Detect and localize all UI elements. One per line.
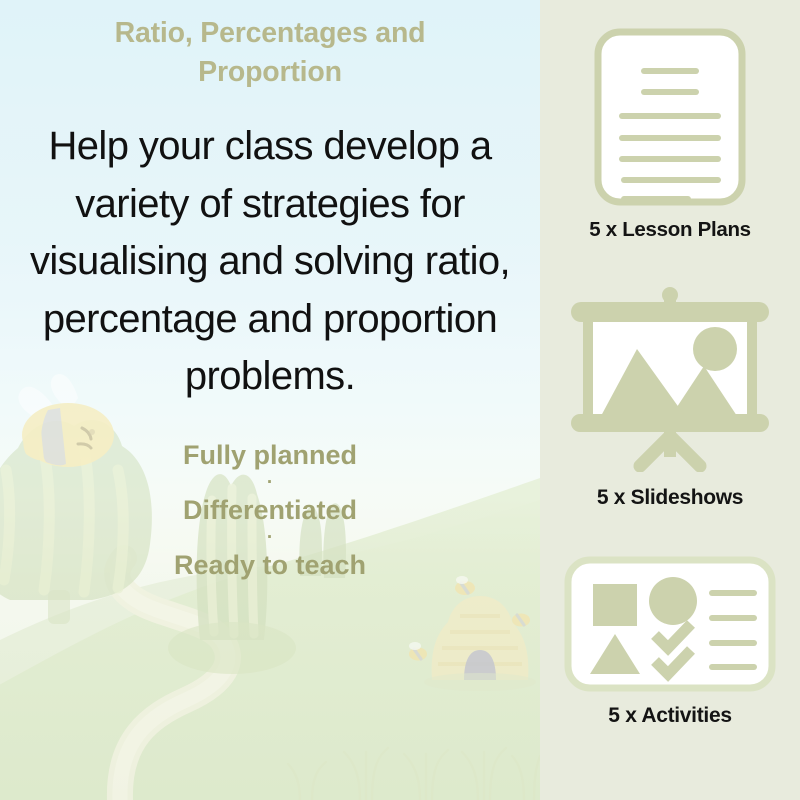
feature-separator-2: ·	[40, 526, 500, 550]
document-lines-icon	[594, 28, 746, 206]
activities-icon-wrap	[564, 556, 776, 692]
feature-item-fully-planned: Fully planned	[40, 440, 500, 471]
left-panel: Ratio, Percentages and Proportion Help y…	[0, 0, 540, 800]
headline-text: Help your class develop a variety of str…	[25, 118, 515, 406]
lesson-plans-icon-wrap	[594, 28, 746, 206]
slideshows-icon-wrap	[567, 286, 773, 472]
feature-list: Fully planned · Differentiated · Ready t…	[40, 440, 500, 581]
feature-separator-1: ·	[40, 471, 500, 495]
lesson-plans-label: 5 x Lesson Plans	[589, 218, 751, 242]
resource-poster: Ratio, Percentages and Proportion Help y…	[0, 0, 800, 800]
projector-screen-icon	[567, 286, 773, 472]
feature-card-slideshows: 5 x Slideshows	[540, 286, 800, 510]
left-content: Ratio, Percentages and Proportion Help y…	[0, 0, 540, 800]
shapes-checklist-icon	[564, 556, 776, 692]
feature-card-lesson-plans: 5 x Lesson Plans	[540, 28, 800, 242]
page-title: Ratio, Percentages and Proportion	[60, 14, 480, 92]
activities-label: 5 x Activities	[608, 704, 731, 728]
feature-item-ready-to-teach: Ready to teach	[40, 550, 500, 581]
right-panel: 5 x Lesson Plans	[540, 0, 800, 800]
feature-card-activities: 5 x Activities	[540, 556, 800, 728]
feature-item-differentiated: Differentiated	[40, 495, 500, 526]
slideshows-label: 5 x Slideshows	[597, 486, 743, 510]
